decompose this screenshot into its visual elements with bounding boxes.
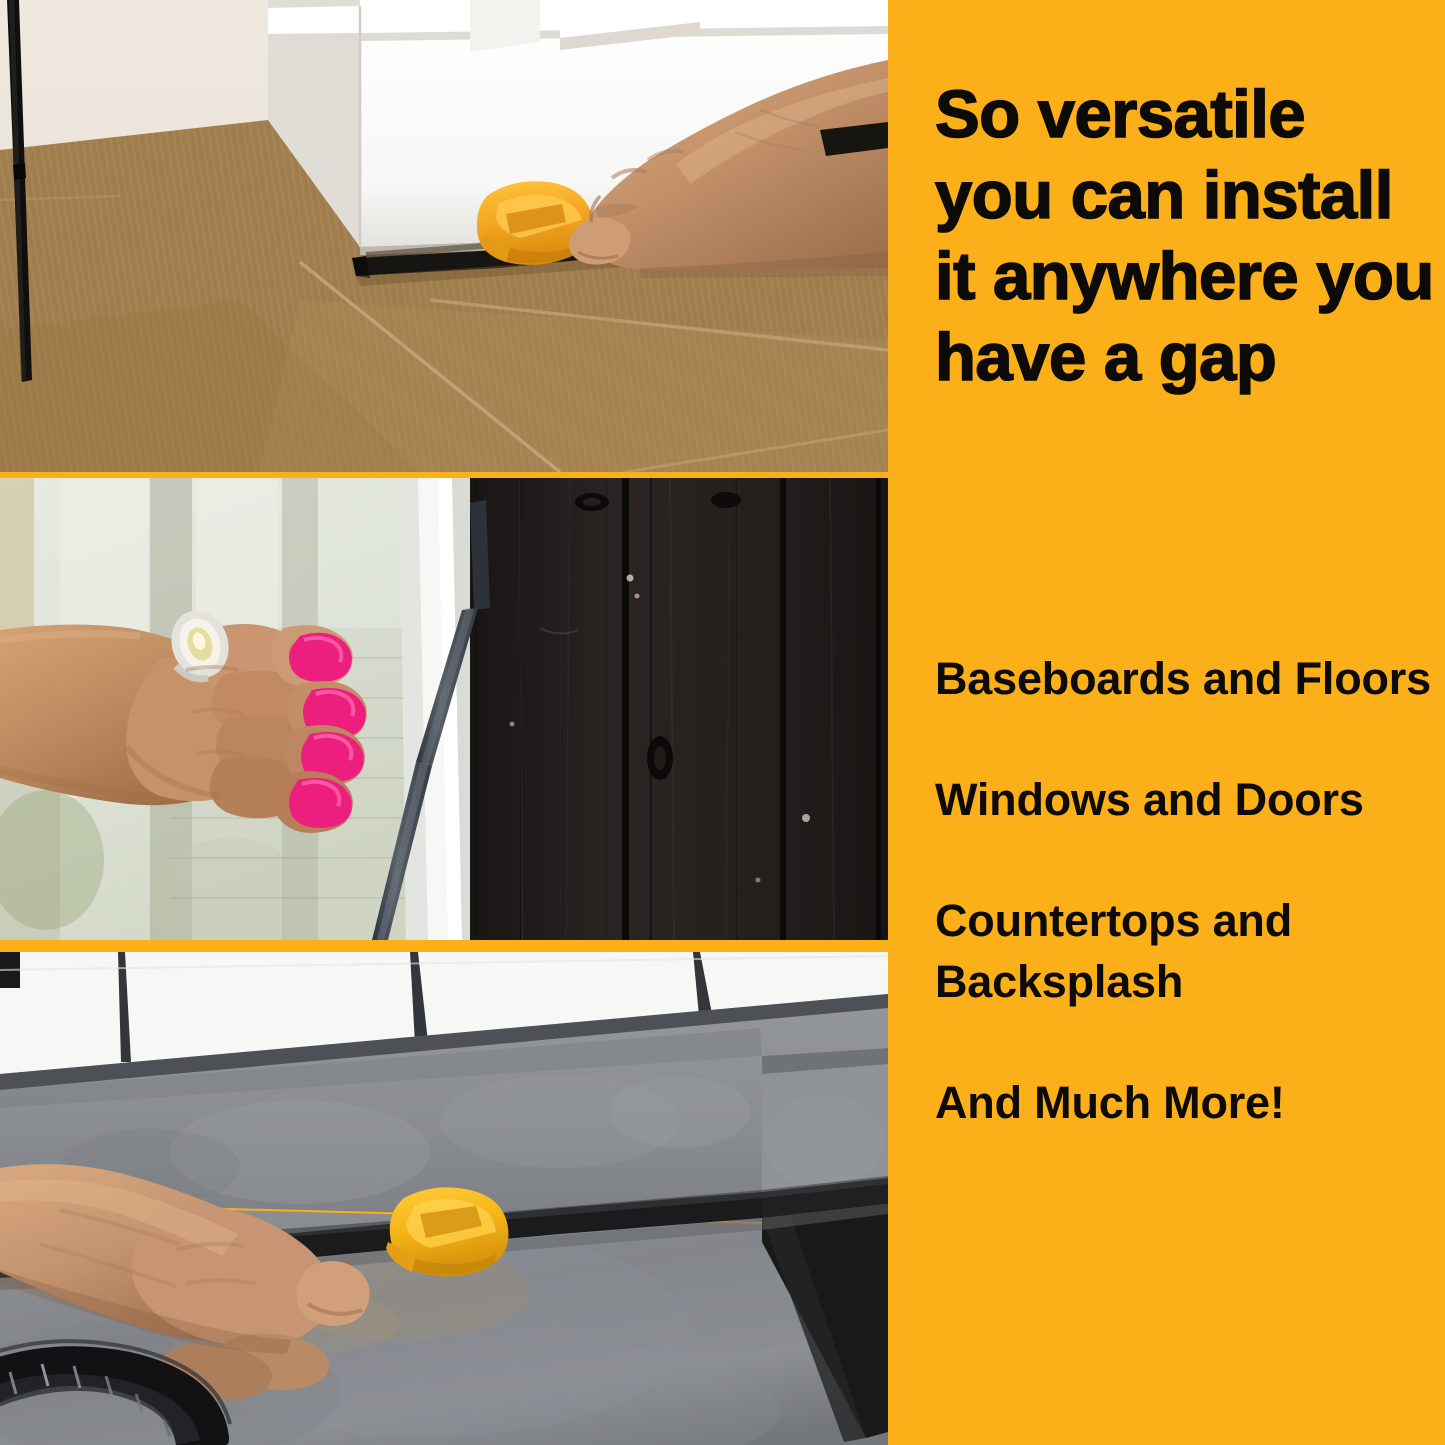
applicator-tool-icon bbox=[386, 1187, 508, 1276]
text-column: So versatile you can install it anywhere… bbox=[888, 0, 1445, 1445]
window-door-illustration bbox=[0, 478, 888, 940]
baseboard-floor-illustration bbox=[0, 0, 888, 472]
photo-column bbox=[0, 0, 888, 1445]
list-item: Countertops and Backsplash bbox=[935, 890, 1440, 1012]
photo-panel-countertop-backsplash bbox=[0, 952, 888, 1445]
photo-panel-baseboard-floor bbox=[0, 0, 888, 472]
page-title: So versatile you can install it anywhere… bbox=[935, 74, 1435, 398]
list-item: And Much More! bbox=[935, 1072, 1440, 1133]
use-case-list: Baseboards and Floors Windows and Doors … bbox=[935, 648, 1440, 1133]
list-item: Baseboards and Floors bbox=[935, 648, 1440, 709]
list-item: Windows and Doors bbox=[935, 769, 1440, 830]
countertop-backsplash-illustration bbox=[0, 952, 888, 1445]
product-feature-poster: So versatile you can install it anywhere… bbox=[0, 0, 1445, 1445]
photo-panel-window-door bbox=[0, 478, 888, 940]
